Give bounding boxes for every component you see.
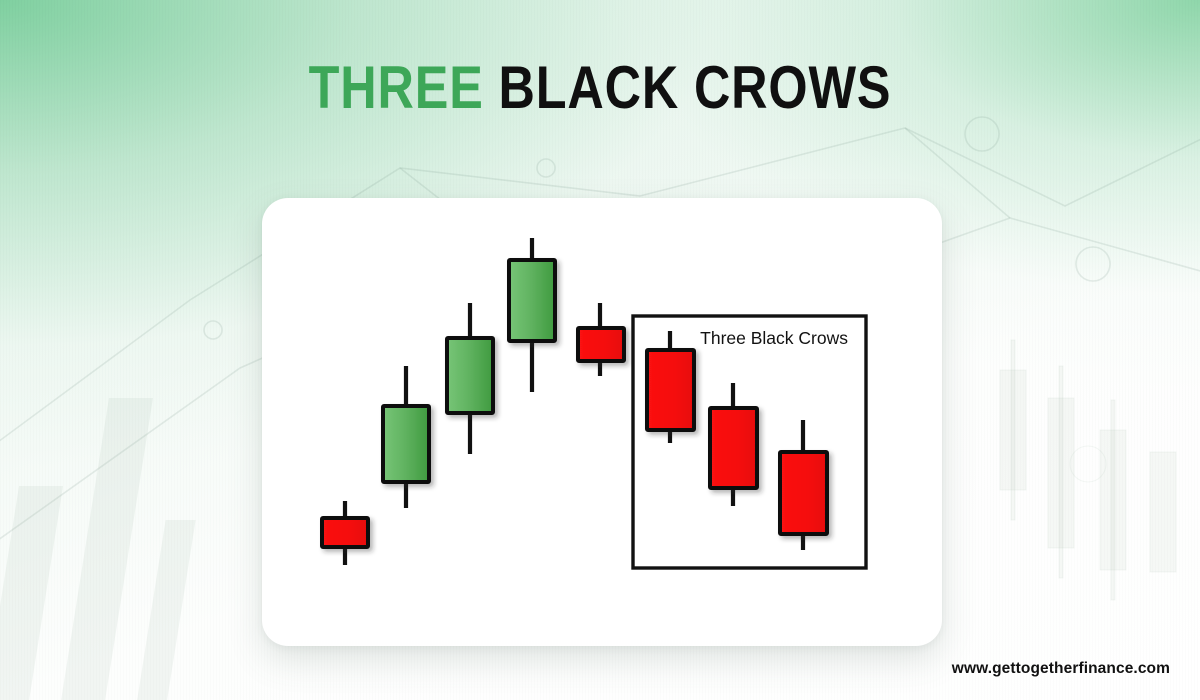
candle-1-body xyxy=(322,518,368,547)
page-title-green: THREE xyxy=(309,54,484,121)
candle-3-body xyxy=(447,338,493,413)
page-title-black: BLACK CROWS xyxy=(499,54,892,121)
footer-website-url: www.gettogetherfinance.com xyxy=(952,660,1170,678)
candle-4-body xyxy=(509,260,555,341)
page-title: THREE BLACK CROWS xyxy=(96,58,1104,118)
candle-6-body xyxy=(647,350,694,430)
candle-3-bullish xyxy=(447,303,493,454)
candle-5-body xyxy=(578,328,624,361)
candle-1-bearish xyxy=(322,501,368,565)
background-bar-shapes-icon xyxy=(0,398,196,700)
chart-card: Three Black Crows xyxy=(262,198,942,646)
candle-2-body xyxy=(383,406,429,482)
pattern-box-label: Three Black Crows xyxy=(700,328,848,348)
candlestick-chart: Three Black Crows xyxy=(262,198,942,646)
candle-7-body xyxy=(710,408,757,488)
candle-7-bearish-crow-2 xyxy=(710,383,757,506)
candle-4-bullish xyxy=(509,238,555,392)
candle-8-body xyxy=(780,452,827,534)
candle-5-bearish xyxy=(578,303,624,376)
candle-8-bearish-crow-3 xyxy=(780,420,827,550)
background-candles-shapes-icon xyxy=(1000,340,1176,600)
candle-6-bearish-crow-1 xyxy=(647,331,694,443)
candle-2-bullish xyxy=(383,366,429,508)
